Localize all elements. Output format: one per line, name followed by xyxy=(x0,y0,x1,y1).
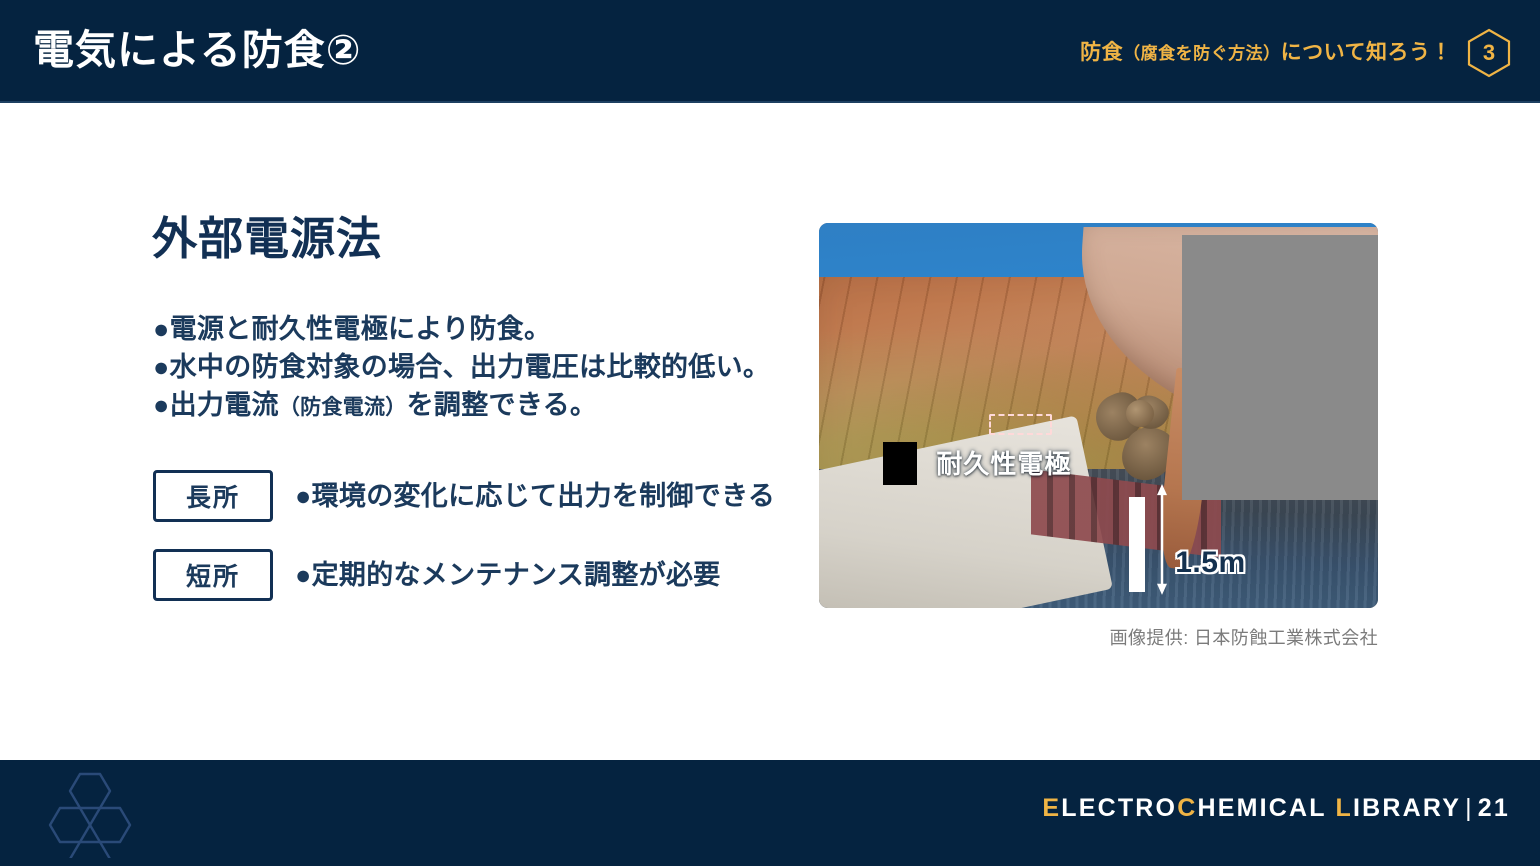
header-section-label-part2: について知ろう！ xyxy=(1281,41,1452,64)
bullet-text: 水中の防食対象の場合、出力電圧は比較的低い。 xyxy=(170,352,771,382)
black-redaction-box xyxy=(883,442,917,484)
slide-footer: ELECTROCHEMICAL LIBRARY|21 xyxy=(0,760,1540,866)
slide-root: 電気による防食② 防食（腐食を防ぐ方法）について知ろう！ 3 外部電源法 ●電源… xyxy=(0,0,1540,866)
brand-letter-e: E xyxy=(1042,794,1061,822)
bullet-text-lead: 出力電流 xyxy=(170,390,279,420)
header-kicker-group: 防食（腐食を防ぐ方法）について知ろう！ 3 xyxy=(1080,28,1512,78)
header-section-label: 防食（腐食を防ぐ方法）について知ろう！ xyxy=(1080,31,1452,76)
bullet-text: 電源と耐久性電極により防食。 xyxy=(170,314,552,344)
bullet-item: ●水中の防食対象の場合、出力電圧は比較的低い。 xyxy=(153,348,833,386)
bullet-marker: ● xyxy=(153,314,170,344)
header-section-label-paren: （腐食を防ぐ方法） xyxy=(1123,44,1281,63)
cons-row: 短所 ●定期的なメンテナンス調整が必要 xyxy=(153,549,721,601)
brand-letter-c: C xyxy=(1177,794,1197,822)
pros-text: ●環境の変化に応じて出力を制御できる xyxy=(295,479,775,513)
scale-indicator: 1.5m xyxy=(1129,444,1364,598)
cons-tag: 短所 xyxy=(153,549,273,601)
photo-credit: 画像提供: 日本防蝕工業株式会社 xyxy=(819,624,1378,650)
photo-annotation-label: 耐久性電極 xyxy=(936,444,1071,481)
bullet-marker: ● xyxy=(153,390,170,420)
brand-part-ibrary: IBRARY xyxy=(1353,794,1461,822)
page-title: 電気による防食② xyxy=(33,20,361,80)
bullet-marker: ● xyxy=(153,352,170,382)
photo-figure: 耐久性電極 1.5m xyxy=(819,223,1378,608)
hexagon-badge-number: 3 xyxy=(1466,28,1512,78)
bullet-item: ●出力電流（防食電流）を調整できる。 xyxy=(153,386,833,427)
bullet-text-paren: （防食電流） xyxy=(279,396,407,419)
brand-part-hemical: HEMICAL xyxy=(1197,794,1335,822)
page-number: 21 xyxy=(1478,794,1510,822)
bullet-list: ●電源と耐久性電極により防食。 ●水中の防食対象の場合、出力電圧は比較的低い。 … xyxy=(153,310,833,427)
double-arrow-icon xyxy=(1155,484,1169,595)
electrode-highlight-box xyxy=(989,414,1052,435)
brand-part-lectro: LECTRO xyxy=(1061,794,1177,822)
bullet-text-tail: を調整できる。 xyxy=(407,390,598,420)
scale-reference-bar xyxy=(1129,497,1145,592)
scale-value-label: 1.5m xyxy=(1175,546,1245,580)
brand-separator: | xyxy=(1461,794,1478,822)
pyrene-molecule-logo-icon xyxy=(36,772,146,858)
pros-row: 長所 ●環境の変化に応じて出力を制御できる xyxy=(153,470,775,522)
hexagon-badge-icon: 3 xyxy=(1466,28,1512,78)
section-heading: 外部電源法 xyxy=(152,210,382,268)
ship-hull-in-drydock-photo: 耐久性電極 1.5m xyxy=(819,223,1378,608)
cons-text: ●定期的なメンテナンス調整が必要 xyxy=(295,558,721,592)
brand-letter-l: L xyxy=(1335,794,1352,822)
bullet-item: ●電源と耐久性電極により防食。 xyxy=(153,310,833,348)
footer-brand: ELECTROCHEMICAL LIBRARY|21 xyxy=(1042,794,1510,823)
slide-header: 電気による防食② 防食（腐食を防ぐ方法）について知ろう！ 3 xyxy=(0,0,1540,103)
pros-tag: 長所 xyxy=(153,470,273,522)
header-section-label-part1: 防食 xyxy=(1080,41,1123,64)
